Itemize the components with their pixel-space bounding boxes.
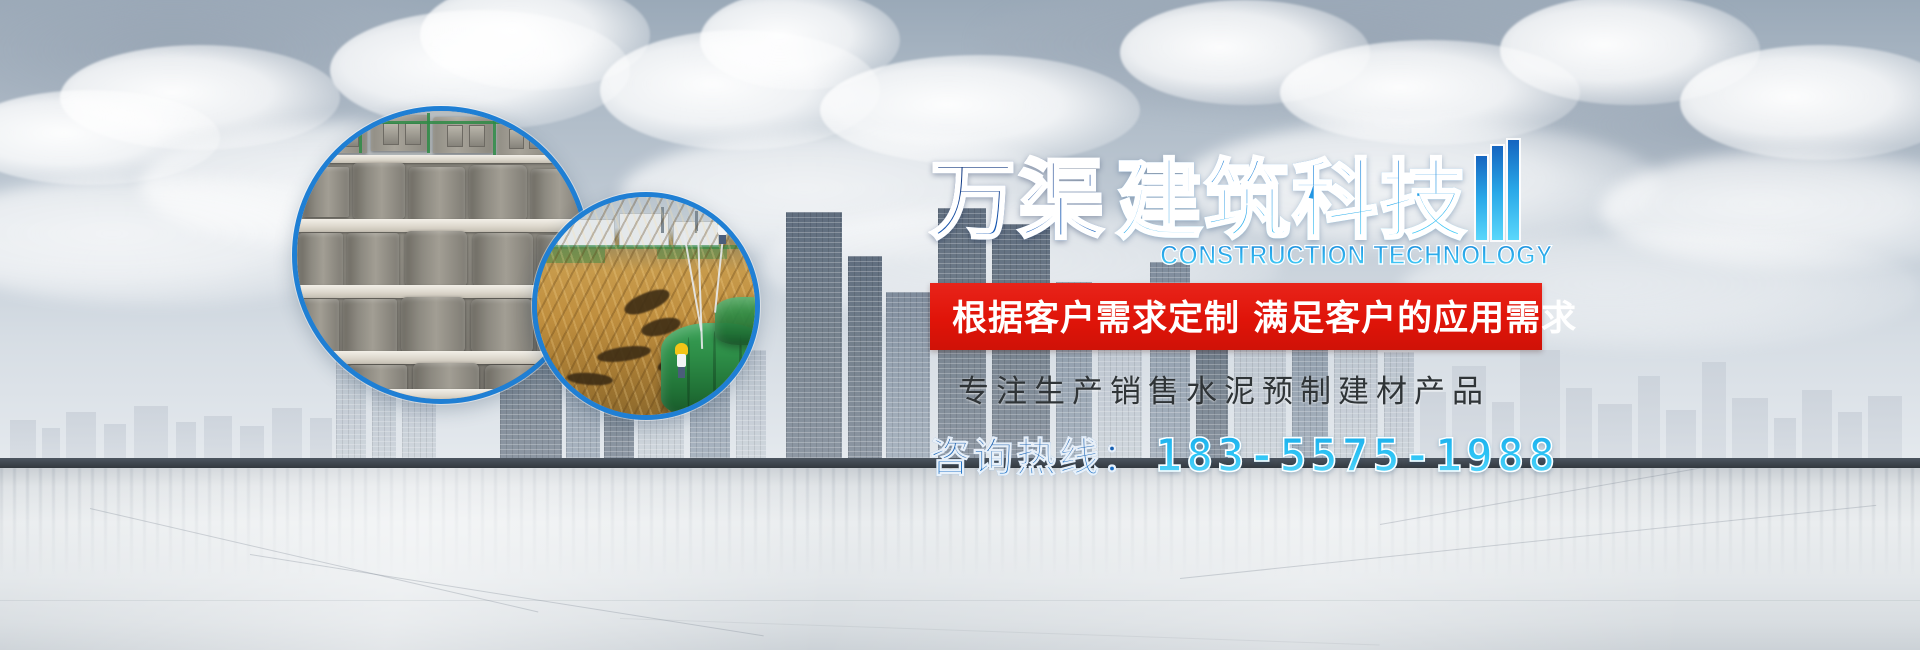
hotline-row: 咨询热线： 183-5575-1988 <box>930 425 1610 483</box>
hotline-label: 咨询热线： <box>930 425 1145 483</box>
brand-name-secondary: 建筑科技 <box>1116 158 1468 244</box>
red-highlight-banner: 根据客户需求定制 满足客户的应用需求 <box>930 283 1542 350</box>
tagline-text: 专注生产销售水泥预制建材产品 <box>930 366 1610 411</box>
promo-banner: 万渠 建筑科技 CONSTRUCTION TECHNOLOGY 根据客户需求定制… <box>0 0 1920 650</box>
banner-content: 万渠 建筑科技 CONSTRUCTION TECHNOLOGY 根据客户需求定制… <box>930 132 1610 483</box>
accent-bars-icon <box>1476 140 1519 240</box>
brand-logo: 万渠 建筑科技 <box>930 132 1610 244</box>
brand-name-primary: 万渠 <box>930 158 1106 244</box>
construction-site-septic-tank-photo[interactable] <box>532 192 760 420</box>
reflective-floor <box>0 468 1920 650</box>
brand-name-english: CONSTRUCTION TECHNOLOGY <box>984 240 1610 271</box>
hotline-number[interactable]: 183-5575-1988 <box>1155 429 1559 482</box>
